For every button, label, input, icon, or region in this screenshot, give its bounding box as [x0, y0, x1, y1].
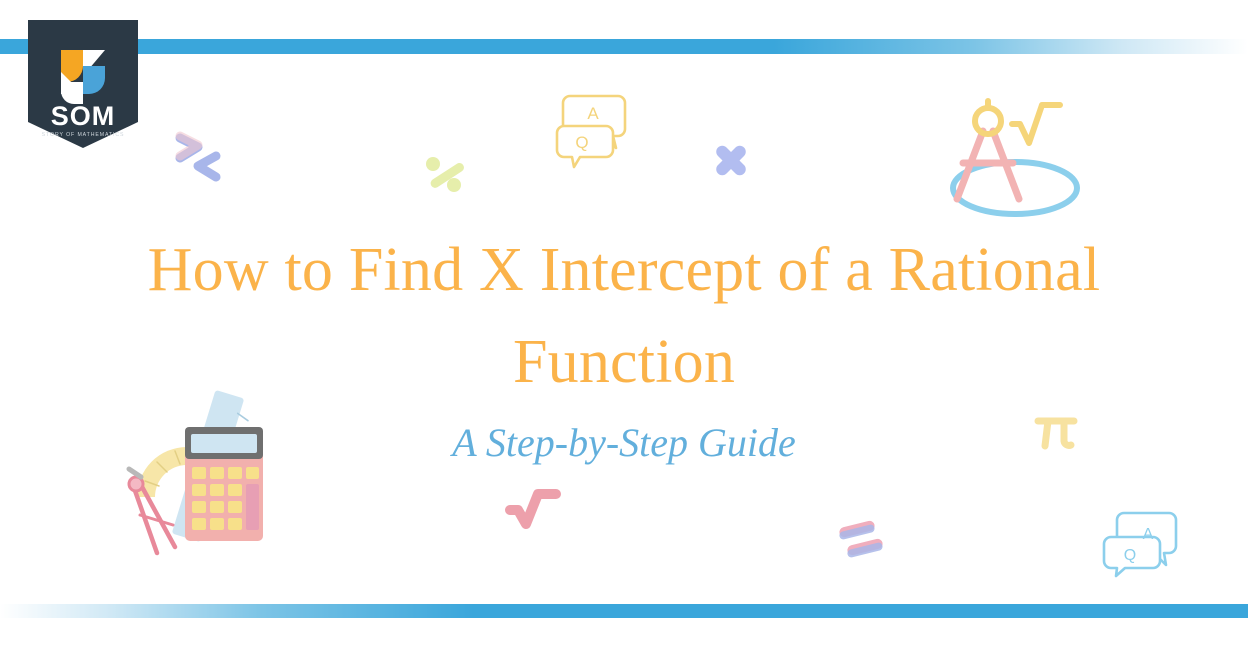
- page-title: How to Find X Intercept of a Rational Fu…: [74, 224, 1174, 409]
- qa-speech-bubbles-blue: A Q: [1102, 505, 1182, 583]
- qa-speech-bubbles-yellow: A Q: [556, 84, 636, 162]
- page-title-line2: Function: [513, 328, 735, 396]
- bubble-letter-a: A: [587, 104, 599, 123]
- article-hero-banner: A Q: [0, 0, 1248, 649]
- page-title-line1: How to Find X Intercept of a Rational: [148, 236, 1101, 304]
- bubble-letter-q: Q: [575, 133, 588, 152]
- multiply-cross-icon: [710, 142, 752, 184]
- hero-text-block: How to Find X Intercept of a Rational Fu…: [0, 224, 1248, 465]
- percent-doodle: [424, 152, 470, 198]
- top-accent-rule: [0, 39, 1248, 54]
- bubble-letter-a: A: [1143, 526, 1154, 543]
- bottom-accent-rule: [0, 604, 1248, 618]
- logo-tagline: STORY OF MATHEMATICS: [42, 132, 125, 138]
- som-logo[interactable]: SOM STORY OF MATHEMATICS: [28, 20, 138, 148]
- logo-wordmark: SOM: [51, 101, 116, 131]
- bubble-letter-q: Q: [1124, 547, 1136, 564]
- square-root-doodle-yellow: [1008, 98, 1064, 150]
- equals-doodle: [834, 518, 890, 566]
- square-root-doodle-pink: [505, 482, 561, 532]
- page-subtitle: A Step-by-Step Guide: [0, 421, 1248, 465]
- greater-less-than-doodle: [172, 128, 232, 188]
